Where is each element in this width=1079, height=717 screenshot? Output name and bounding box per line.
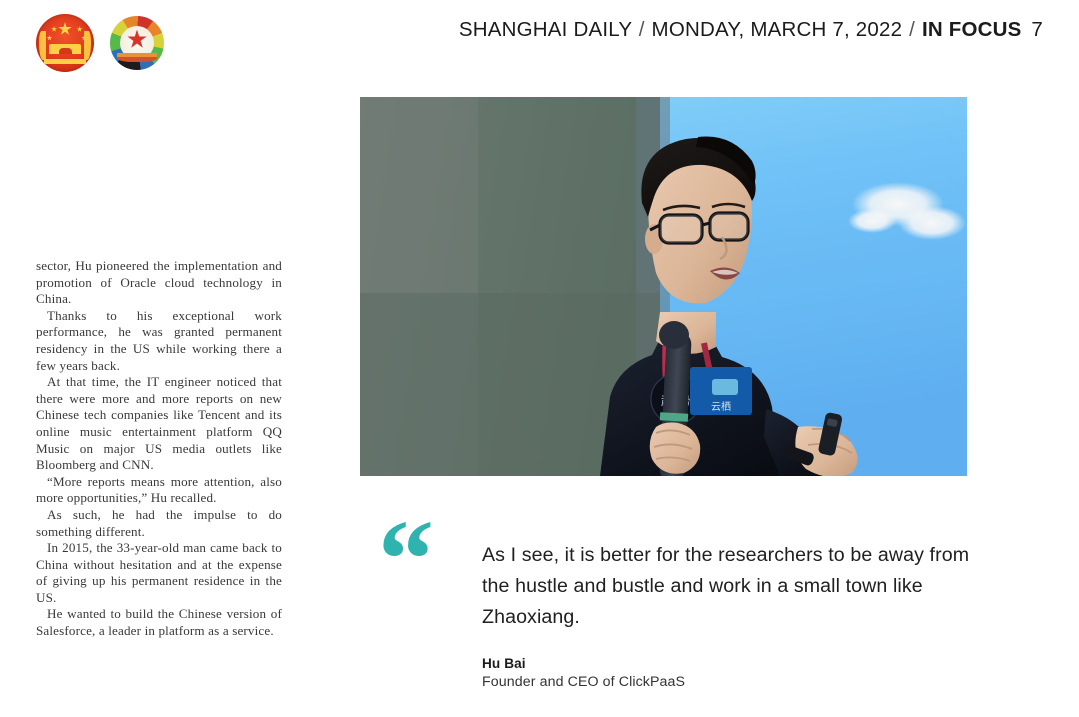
pull-quote-body: As I see, it is better for the researche… (482, 524, 980, 692)
attribution-name: Hu Bai (482, 655, 980, 673)
page-number: 7 (1027, 18, 1043, 41)
pull-quote-attribution: Hu Bai Founder and CEO of ClickPaaS (482, 655, 980, 692)
cppcc-ribbon-decor (117, 53, 156, 62)
attribution-role: Founder and CEO of ClickPaaS (482, 673, 980, 692)
emblem-group (36, 14, 166, 72)
wheat-right-decor (84, 31, 90, 60)
publication-name: SHANGHAI DAILY (459, 18, 632, 41)
emblem-base-decor (44, 59, 86, 64)
small-star-icon (77, 26, 83, 32)
big-star-icon (58, 22, 72, 36)
story-paragraph: At that time, the IT engineer noticed th… (36, 374, 282, 474)
publication-date: MONDAY, MARCH 7, 2022 (652, 18, 903, 41)
section-name: IN FOCUS (922, 18, 1022, 41)
story-paragraph: He wanted to build the Chinese version o… (36, 606, 282, 639)
pull-quote-text: As I see, it is better for the researche… (482, 540, 980, 633)
speaker-photo-illustration: 趋 势 云栖 (360, 97, 967, 476)
story-paragraph: As such, he had the impulse to do someth… (36, 507, 282, 540)
national-emblem-of-china-icon (36, 14, 94, 72)
pull-quote-block: “ As I see, it is better for the researc… (360, 524, 980, 692)
story-text-column: sector, Hu pioneered the implementation … (36, 258, 282, 640)
masthead-separator-1: / (638, 18, 646, 41)
small-star-icon (46, 35, 52, 41)
masthead-separator-2: / (908, 18, 916, 41)
speaker-photo: 趋 势 云栖 (360, 97, 967, 476)
story-paragraph: In 2015, the 33-year-old man came back t… (36, 540, 282, 606)
tiananmen-gate-decor (49, 44, 82, 54)
masthead-header-line: SHANGHAI DAILY / MONDAY, MARCH 7, 2022 /… (459, 18, 1043, 42)
story-paragraph: “More reports means more attention, also… (36, 474, 282, 507)
quote-mark-icon: “ (360, 524, 482, 692)
story-paragraph: Thanks to his exceptional work performan… (36, 308, 282, 374)
page-masthead: SHANGHAI DAILY / MONDAY, MARCH 7, 2022 /… (0, 0, 1079, 92)
story-paragraph: sector, Hu pioneered the implementation … (36, 258, 282, 308)
wheat-left-decor (39, 31, 45, 60)
small-star-icon (51, 26, 57, 32)
cppcc-emblem-icon (108, 14, 166, 72)
